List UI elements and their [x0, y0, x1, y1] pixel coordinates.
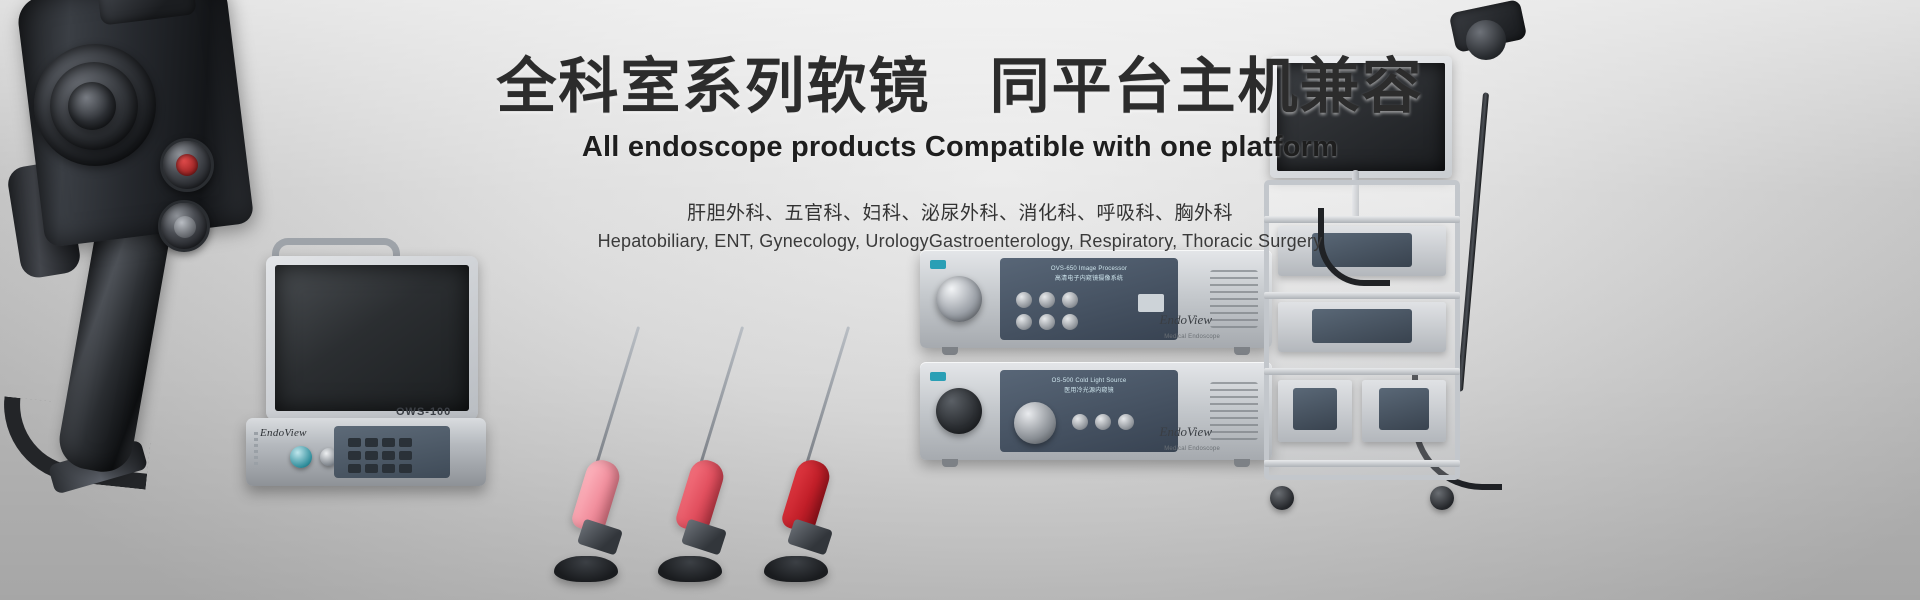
keypad-key	[399, 451, 412, 460]
light-source-foot	[942, 459, 958, 467]
ows-console-image: OWS-100 EndoView	[236, 238, 486, 488]
cart-accessory-panel-right	[1379, 388, 1429, 430]
processor-front-panel: OVS-650 Image Processor 高清电子内窥镜摄像系统	[1000, 258, 1178, 340]
headline-part-2: 同平台主机兼容	[990, 53, 1424, 120]
light-source-port-dial	[936, 388, 982, 434]
light-source-foot	[1234, 459, 1250, 467]
light-source-unit: OS-500 Cold Light Source 医用冷光源内窥镜 EndoVi…	[920, 362, 1272, 460]
console-model-label: OWS-100	[396, 406, 451, 418]
instrument-display-stand	[764, 556, 828, 582]
cart-caster-right	[1430, 486, 1454, 510]
instrument-display-stand	[658, 556, 722, 582]
light-source-button	[1095, 414, 1111, 430]
console-brand-label: EndoView	[260, 427, 307, 439]
keypad-key	[348, 464, 361, 473]
processor-button	[1062, 292, 1078, 308]
keypad-key	[365, 464, 378, 473]
console-base-unit: OWS-100 EndoView	[246, 418, 486, 486]
image-processor-unit: OVS-650 Image Processor 高清电子内窥镜摄像系统 Endo…	[920, 250, 1272, 348]
instrument-connector	[787, 518, 833, 555]
banner-departments-chinese: 肝胆外科、五官科、妇科、泌尿外科、消化科、呼吸科、胸外科	[0, 198, 1920, 225]
product-banner: OWS-100 EndoView	[0, 0, 1920, 600]
cart-accessory-unit-right	[1362, 380, 1446, 442]
keypad-key	[365, 438, 378, 447]
console-vent	[254, 432, 258, 466]
keypad-key	[348, 451, 361, 460]
light-source-panel-title-cn: 医用冷光源内窥镜	[1000, 387, 1178, 397]
light-source-button	[1072, 414, 1088, 430]
light-source-brightness-knob	[1014, 402, 1056, 444]
light-source-brand-label: EndoView	[1160, 424, 1212, 440]
processor-brand-label: EndoView	[1160, 312, 1212, 328]
processor-main-dial	[936, 276, 982, 322]
keypad-key	[382, 464, 395, 473]
banner-departments-english: Hepatobiliary, ENT, Gynecology, UrologyG…	[0, 231, 1920, 252]
console-display-bezel	[266, 256, 478, 420]
cart-shelf-lower	[1264, 368, 1460, 375]
processor-brand-sublabel: Medical Endoscope	[1164, 334, 1220, 340]
processor-foot	[942, 347, 958, 355]
processor-stack-image: OVS-650 Image Processor 高清电子内窥镜摄像系统 Endo…	[920, 250, 1272, 460]
processor-button-row-bottom	[1016, 314, 1078, 330]
instrument-display-stand	[554, 556, 618, 582]
processor-panel-title-cn: 高清电子内窥镜摄像系统	[1000, 275, 1178, 285]
banner-subheadline: All endoscope products Compatible with o…	[0, 131, 1920, 164]
processor-indicator-chip	[930, 260, 946, 269]
processor-button-row-top	[1016, 292, 1078, 308]
keypad-key	[348, 438, 361, 447]
cart-caster-left	[1270, 486, 1294, 510]
processor-button	[1039, 314, 1055, 330]
cart-accessory-panel-left	[1293, 388, 1337, 430]
keypad-key	[382, 451, 395, 460]
processor-button	[1016, 314, 1032, 330]
console-display-screen	[275, 265, 469, 411]
light-source-indicator-chip	[930, 372, 946, 381]
cart-shelf-bottom	[1264, 460, 1460, 467]
banner-headline: 全科室系列软镜 同平台主机兼容	[0, 52, 1920, 123]
light-source-button-row	[1072, 414, 1134, 430]
keypad-key	[399, 438, 412, 447]
processor-button	[1016, 292, 1032, 308]
instrument-connector	[577, 518, 623, 555]
processor-panel-title-en: OVS-650 Image Processor	[1000, 265, 1178, 275]
keypad-key	[365, 451, 378, 460]
processor-button	[1039, 292, 1055, 308]
console-keypad	[348, 438, 412, 473]
light-source-front-panel: OS-500 Cold Light Source 医用冷光源内窥镜	[1000, 370, 1178, 452]
light-source-button	[1118, 414, 1134, 430]
cart-light-source-panel	[1312, 309, 1413, 343]
light-source-panel-title-en: OS-500 Cold Light Source	[1000, 377, 1178, 387]
keypad-key	[382, 438, 395, 447]
cart-light-source-unit	[1278, 302, 1446, 352]
processor-button	[1062, 314, 1078, 330]
cart-accessory-unit-left	[1278, 380, 1352, 442]
console-keypad-panel	[334, 426, 450, 478]
cart-shelf-middle	[1264, 292, 1460, 299]
headline-part-1: 全科室系列软镜	[496, 53, 930, 120]
processor-usb-port	[1138, 294, 1164, 312]
light-source-vent-grille	[1210, 382, 1258, 440]
processor-vent-grille	[1210, 270, 1258, 328]
console-power-dial	[290, 446, 312, 468]
instrument-connector	[681, 518, 727, 555]
banner-copy: 全科室系列软镜 同平台主机兼容 All endoscope products C…	[0, 52, 1920, 252]
keypad-key	[399, 464, 412, 473]
light-source-brand-sublabel: Medical Endoscope	[1164, 446, 1220, 452]
processor-foot	[1234, 347, 1250, 355]
